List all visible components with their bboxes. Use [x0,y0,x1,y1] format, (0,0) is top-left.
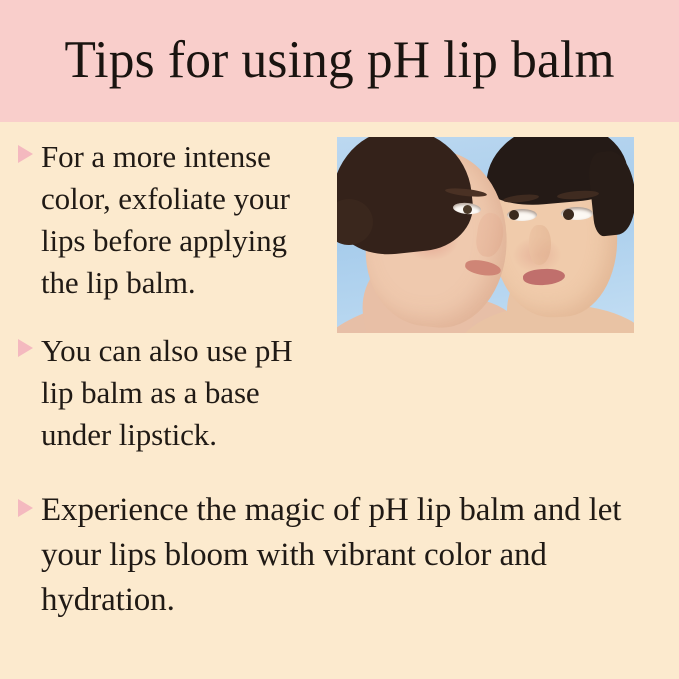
right-woman-pupil-left [509,210,519,220]
left-woman-pupil [463,205,472,214]
triangle-right-icon [18,499,33,517]
tip-item-3: Experience the magic of pH lip balm and … [18,488,658,623]
infographic-root: Tips for using pH lip balm [0,0,679,679]
right-woman-pupil-right [563,209,574,220]
tip-text-3: Experience the magic of pH lip balm and … [41,488,658,623]
content-area: For a more intense color, exfoliate your… [0,122,679,679]
tip-text-1: For a more intense color, exfoliate your… [41,136,328,304]
tip-text-2: You can also use pH lip balm as a base u… [41,330,328,456]
page-title: Tips for using pH lip balm [64,33,614,89]
triangle-right-icon [18,339,33,357]
tip-item-2: You can also use pH lip balm as a base u… [18,330,328,456]
tip-item-1: For a more intense color, exfoliate your… [18,136,328,304]
header-band: Tips for using pH lip balm [0,0,679,122]
triangle-right-icon [18,145,33,163]
photo-inner [337,137,634,333]
two-women-faces-photo [337,137,634,333]
